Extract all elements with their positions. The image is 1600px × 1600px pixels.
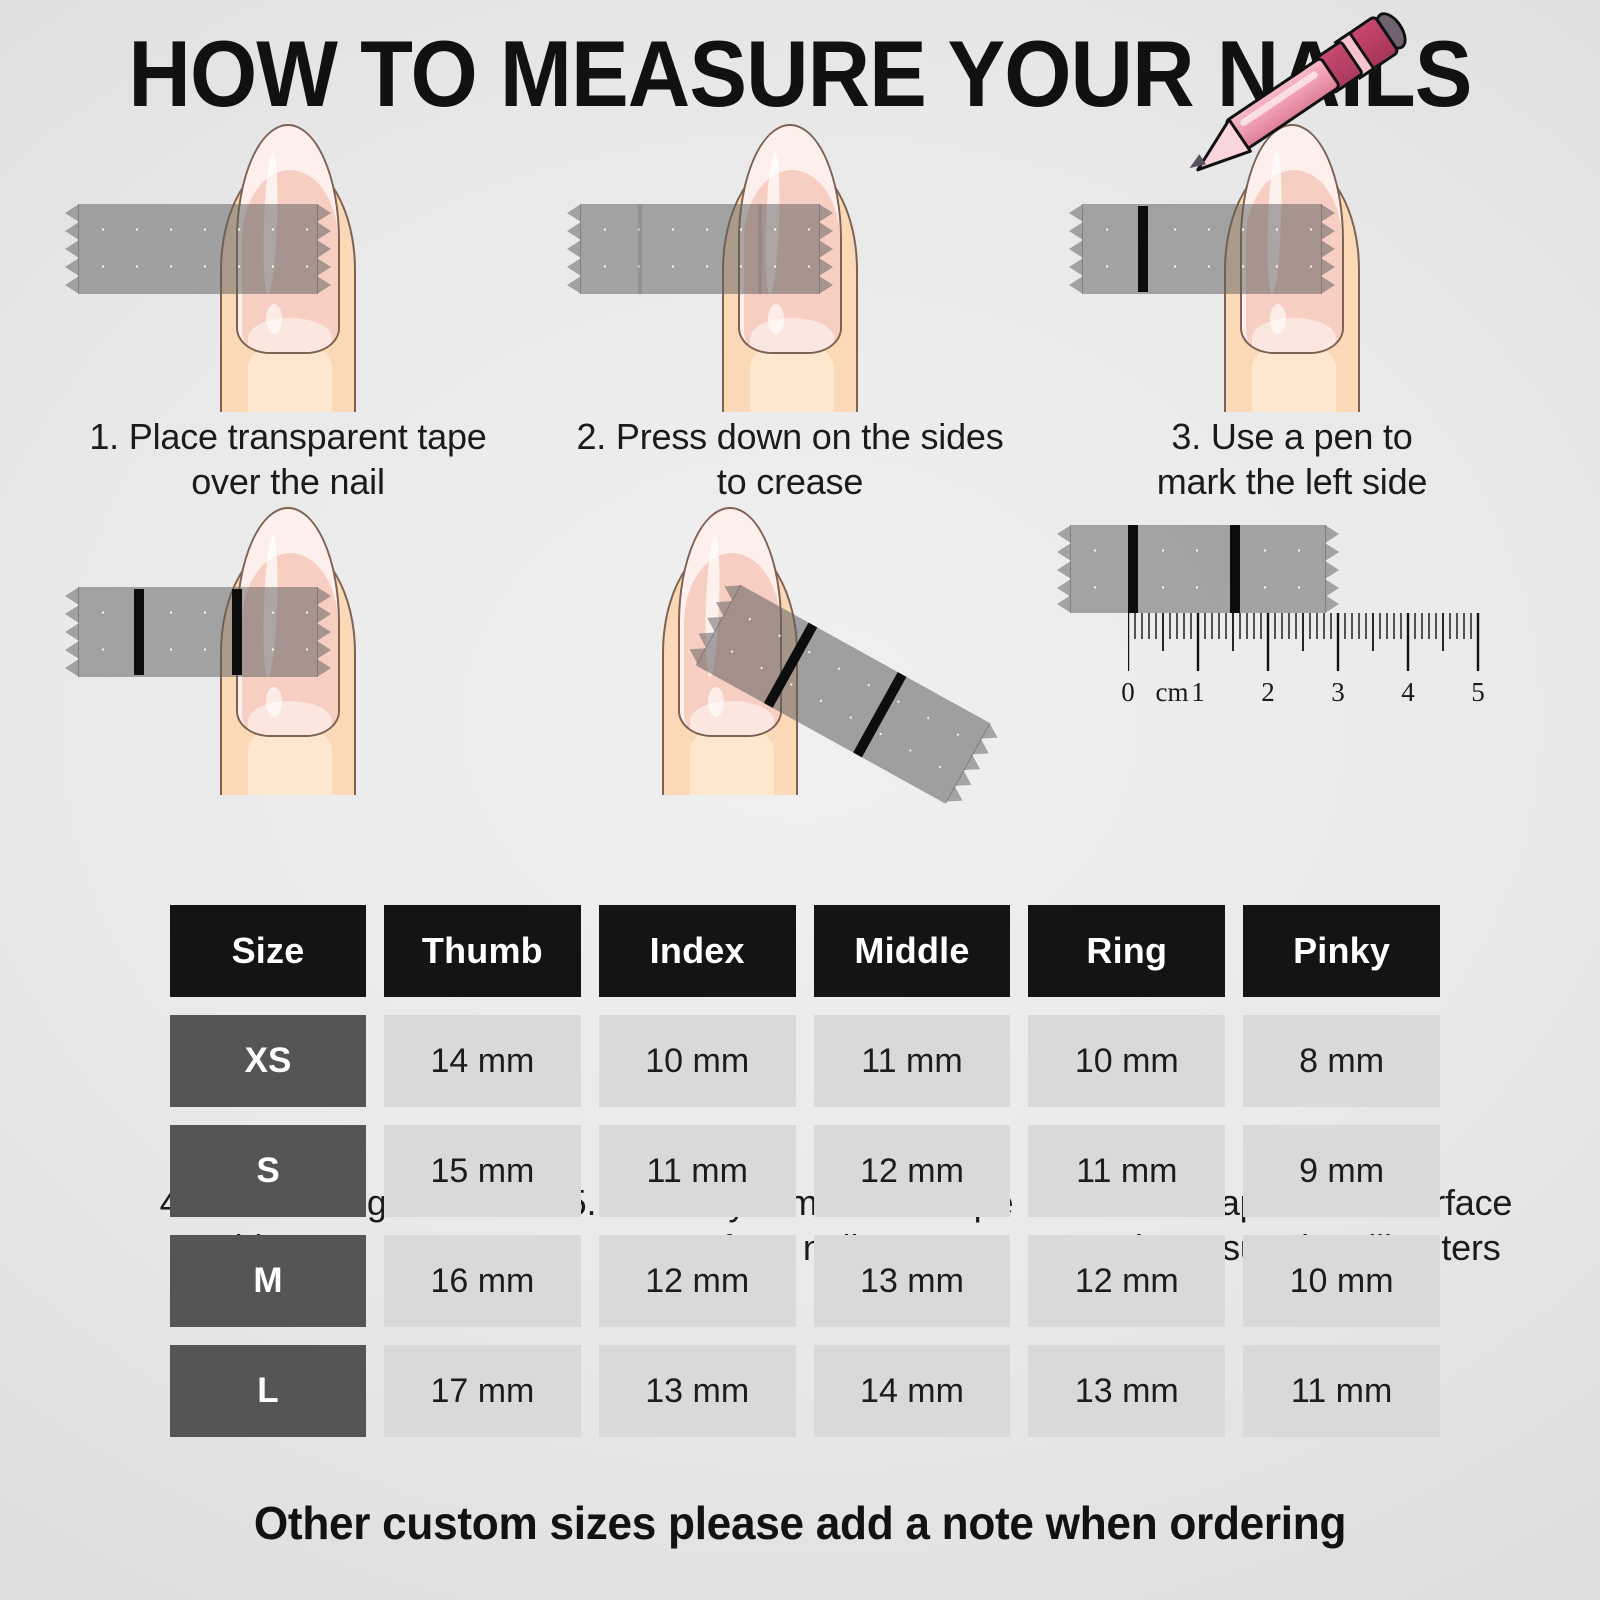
infographic-page: HOW TO MEASURE YOUR NAILS — [0, 0, 1600, 1600]
measurement-cell: 10 mm — [1028, 1015, 1225, 1107]
measurement-cell: 11 mm — [814, 1015, 1011, 1107]
step-1-caption: 1. Place transparent tape over the nail — [38, 414, 538, 504]
tape-strip — [1082, 204, 1322, 294]
table-row: L17 mm13 mm14 mm13 mm11 mm — [170, 1345, 1440, 1437]
measurement-cell: 10 mm — [1243, 1235, 1440, 1327]
measurement-cell: 8 mm — [1243, 1015, 1440, 1107]
table-row: XS14 mm10 mm11 mm10 mm8 mm — [170, 1015, 1440, 1107]
measurement-cell: 12 mm — [1028, 1235, 1225, 1327]
step-2: 2. Press down on the sides to crease — [540, 122, 1040, 412]
table-header-ring: Ring — [1028, 905, 1225, 997]
table-header-middle: Middle — [814, 905, 1011, 997]
tape-strip-flat — [1070, 525, 1326, 613]
footer-note: Other custom sizes please add a note whe… — [32, 1496, 1568, 1550]
tape-texture — [580, 204, 820, 294]
measurement-cell: 16 mm — [384, 1235, 581, 1327]
step-4-illustration — [38, 505, 538, 795]
size-cell-s: S — [170, 1125, 366, 1217]
measurement-cell: 14 mm — [384, 1015, 581, 1107]
nail-highlight-small-icon — [768, 304, 784, 334]
measurement-cell: 11 mm — [599, 1125, 796, 1217]
tape-texture — [1082, 204, 1322, 294]
measurement-cell: 13 mm — [814, 1235, 1011, 1327]
step-2-illustration — [540, 122, 1040, 412]
ruler-label-5: 5 — [1471, 677, 1485, 708]
step-4: 4. Mark the right side next — [38, 505, 538, 795]
pen-mark-right — [1230, 525, 1240, 613]
tape-edge-left-icon — [1057, 525, 1071, 613]
step-6: 0 cm 1 2 3 4 5 6. Place tape on flat sur… — [1042, 505, 1542, 795]
tape-edge-left-icon — [65, 587, 79, 677]
step-1-caption-line1: 1. Place transparent tape — [38, 414, 538, 459]
tape-texture — [78, 204, 318, 294]
step-2-caption-line2: to crease — [540, 459, 1040, 504]
measurement-cell: 17 mm — [384, 1345, 581, 1437]
measurement-cell: 12 mm — [599, 1235, 796, 1327]
table-header-row: SizeThumbIndexMiddleRingPinky — [170, 905, 1440, 997]
tape-edge-right-icon — [1321, 204, 1335, 294]
step-2-caption-line1: 2. Press down on the sides — [540, 414, 1040, 459]
tape-strip — [78, 204, 318, 294]
tape-crease-right — [758, 204, 762, 294]
measurement-cell: 13 mm — [599, 1345, 796, 1437]
ruler-label-4: 4 — [1401, 677, 1415, 708]
step-5-illustration — [540, 505, 1040, 795]
ruler-icon — [1128, 613, 1484, 683]
tape-edge-right-icon — [317, 204, 331, 294]
step-3: 3. Use a pen to mark the left side — [1042, 122, 1542, 412]
nail-highlight-small-icon — [266, 687, 282, 717]
nail-tip — [248, 318, 332, 352]
step-3-caption-line2: mark the left side — [1042, 459, 1542, 504]
tape-edge-left-icon — [1069, 204, 1083, 294]
step-1-illustration — [38, 122, 538, 412]
measurement-cell: 14 mm — [814, 1345, 1011, 1437]
pen-mark-left — [1138, 206, 1148, 292]
tape-texture — [78, 587, 318, 677]
nail-tip — [750, 318, 834, 352]
pen-mark-right — [232, 589, 242, 675]
measurement-cell: 9 mm — [1243, 1125, 1440, 1217]
step-1: 1. Place transparent tape over the nail — [38, 122, 538, 412]
step-6-illustration: 0 cm 1 2 3 4 5 — [1042, 505, 1542, 795]
step-3-caption: 3. Use a pen to mark the left side — [1042, 414, 1542, 504]
table-header-size: Size — [170, 905, 366, 997]
measurement-cell: 11 mm — [1243, 1345, 1440, 1437]
step-3-caption-line1: 3. Use a pen to — [1042, 414, 1542, 459]
step-2-caption: 2. Press down on the sides to crease — [540, 414, 1040, 504]
tape-strip — [78, 587, 318, 677]
size-chart-table: SizeThumbIndexMiddleRingPinky XS14 mm10 … — [170, 905, 1440, 1455]
table-header-pinky: Pinky — [1243, 905, 1440, 997]
measurement-cell: 15 mm — [384, 1125, 581, 1217]
step-3-illustration — [1042, 122, 1542, 412]
nail-tip — [248, 701, 332, 735]
measurement-cell: 13 mm — [1028, 1345, 1225, 1437]
tape-edge-right-icon — [1325, 525, 1339, 613]
table-header-thumb: Thumb — [384, 905, 581, 997]
step-1-caption-line2: over the nail — [38, 459, 538, 504]
table-row: S15 mm11 mm12 mm11 mm9 mm — [170, 1125, 1440, 1217]
tape-crease-left — [638, 204, 642, 294]
ruler-label-cm: cm — [1156, 677, 1189, 708]
nail-tip — [690, 701, 774, 735]
table-row: M16 mm12 mm13 mm12 mm10 mm — [170, 1235, 1440, 1327]
tape-edge-right-icon — [819, 204, 833, 294]
ruler-labels: 0 cm 1 2 3 4 5 — [1128, 677, 1498, 711]
ruler-label-3: 3 — [1331, 677, 1345, 708]
ruler-label-1: 1 — [1191, 677, 1205, 708]
size-cell-m: M — [170, 1235, 366, 1327]
table-body: XS14 mm10 mm11 mm10 mm8 mmS15 mm11 mm12 … — [170, 1015, 1440, 1437]
nail-highlight-small-icon — [266, 304, 282, 334]
measurement-cell: 10 mm — [599, 1015, 796, 1107]
nail-highlight-small-icon — [708, 687, 724, 717]
tape-strip-creased — [580, 204, 820, 294]
size-cell-l: L — [170, 1345, 366, 1437]
tape-texture — [1070, 525, 1326, 613]
tape-edge-left-icon — [567, 204, 581, 294]
tape-edge-left-icon — [65, 204, 79, 294]
nail-tip — [1252, 318, 1336, 352]
size-cell-xs: XS — [170, 1015, 366, 1107]
measurement-cell: 12 mm — [814, 1125, 1011, 1217]
measurement-cell: 11 mm — [1028, 1125, 1225, 1217]
pen-mark-left — [1128, 525, 1138, 613]
pen-mark-left — [134, 589, 144, 675]
ruler-label-2: 2 — [1261, 677, 1275, 708]
tape-edge-right-icon — [317, 587, 331, 677]
ruler-label-0: 0 — [1121, 677, 1135, 708]
step-5: 5. Carefully remove the tape from nail — [540, 505, 1040, 795]
table-header-index: Index — [599, 905, 796, 997]
nail-highlight-small-icon — [1270, 304, 1286, 334]
